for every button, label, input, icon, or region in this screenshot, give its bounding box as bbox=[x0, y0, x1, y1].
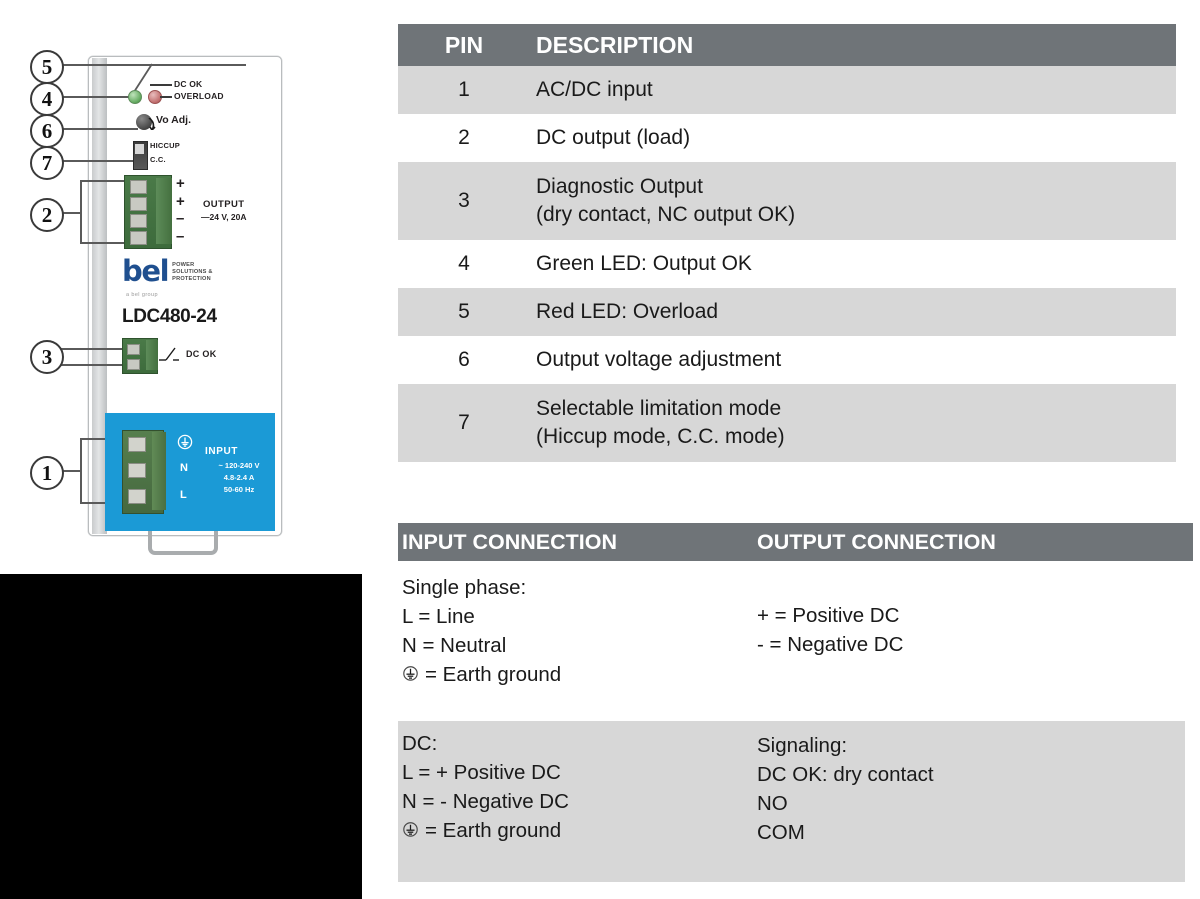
output-symbol-minus-2: – bbox=[176, 228, 184, 245]
pin-number: 7 bbox=[398, 411, 530, 435]
callout-5: 5 bbox=[30, 50, 64, 84]
pin-table-header-row: PIN DESCRIPTION bbox=[398, 24, 1176, 66]
input-connection-line-earth: = Earth ground bbox=[402, 660, 757, 689]
earth-ground-text: = Earth ground bbox=[425, 660, 561, 689]
output-connection-line: Signaling: bbox=[757, 731, 934, 760]
pin-description-line: Red LED: Overload bbox=[536, 298, 718, 326]
connection-header-output: OUTPUT CONNECTION bbox=[757, 530, 996, 555]
input-word-label: INPUT bbox=[205, 446, 238, 457]
leader-6 bbox=[60, 128, 138, 130]
pin-number: 5 bbox=[398, 300, 530, 324]
pin-description-table: PIN DESCRIPTION 1 AC/DC input 2 DC outpu… bbox=[398, 24, 1176, 462]
output-connection-line: COM bbox=[757, 818, 934, 847]
output-symbol-plus-2: + bbox=[176, 193, 185, 210]
table-row: 1 AC/DC input bbox=[398, 66, 1176, 114]
leader-3-top bbox=[60, 348, 128, 350]
pin-table-header-description: DESCRIPTION bbox=[530, 32, 693, 59]
pin-number: 2 bbox=[398, 126, 530, 150]
input-connection-cell: DC: L = + Positive DC N = - Negative DC … bbox=[398, 729, 757, 882]
pin-description-line: Green LED: Output OK bbox=[536, 250, 752, 278]
input-terminal-side bbox=[152, 432, 166, 510]
dc-ok-terminal-label: DC OK bbox=[186, 349, 217, 359]
connection-table: INPUT CONNECTION OUTPUT CONNECTION Singl… bbox=[398, 523, 1193, 882]
pin-number: 6 bbox=[398, 348, 530, 372]
input-letter-n: N bbox=[180, 462, 188, 474]
earth-ground-icon bbox=[402, 822, 419, 839]
pin-description-line: (Hiccup mode, C.C. mode) bbox=[536, 423, 785, 451]
earth-ground-text: = Earth ground bbox=[425, 816, 561, 845]
leader-2-bracket bbox=[80, 180, 82, 244]
callout-4: 4 bbox=[30, 82, 64, 116]
callout-1: 1 bbox=[30, 456, 64, 490]
overload-led-label: OVERLOAD bbox=[174, 91, 224, 101]
cc-mode-label: C.C. bbox=[150, 155, 166, 164]
pin-description-line: Selectable limitation mode bbox=[536, 395, 785, 423]
connection-table-header-row: INPUT CONNECTION OUTPUT CONNECTION bbox=[398, 523, 1193, 561]
dc-ok-terminal-side bbox=[146, 340, 158, 370]
output-connection-cell: + = Positive DC - = Negative DC bbox=[757, 573, 903, 721]
limitation-mode-switch-knob bbox=[135, 144, 144, 154]
pin-table-header-pin: PIN bbox=[398, 32, 530, 59]
pin-number: 3 bbox=[398, 189, 530, 213]
input-connection-cell: Single phase: L = Line N = Neutral = Ear… bbox=[398, 573, 757, 721]
output-connection-line: - = Negative DC bbox=[757, 630, 903, 659]
bel-subtitle: a bel group bbox=[126, 292, 158, 298]
input-connection-line: L = + Positive DC bbox=[402, 758, 757, 787]
pin-description-line: DC output (load) bbox=[536, 124, 690, 152]
table-row: DC: L = + Positive DC N = - Negative DC … bbox=[398, 721, 1185, 882]
bel-tagline: POWERSOLUTIONS &PROTECTION bbox=[172, 262, 212, 283]
output-connection-line: NO bbox=[757, 789, 934, 818]
table-row: 5 Red LED: Overload bbox=[398, 288, 1176, 336]
dc-ok-led-label: DC OK bbox=[174, 79, 202, 89]
output-connection-cell: Signaling: DC OK: dry contact NO COM bbox=[757, 729, 934, 882]
pin-description-line: (dry contact, NC output OK) bbox=[536, 201, 795, 229]
earth-ground-icon bbox=[177, 434, 193, 450]
hiccup-mode-label: HICCUP bbox=[150, 141, 180, 150]
output-connection-line: DC OK: dry contact bbox=[757, 760, 934, 789]
input-connection-line: Single phase: bbox=[402, 573, 757, 602]
table-row: Single phase: L = Line N = Neutral = Ear… bbox=[398, 561, 1193, 721]
callout-2: 2 bbox=[30, 198, 64, 232]
product-figure: 5 4 6 7 2 3 1 DC OK OVERLOAD Vo Adj. HIC… bbox=[0, 0, 375, 570]
leader-5 bbox=[60, 64, 246, 66]
input-connection-line: N = Neutral bbox=[402, 631, 757, 660]
device-mounting-foot bbox=[148, 531, 218, 555]
input-connection-line: DC: bbox=[402, 729, 757, 758]
model-number: LDC480-24 bbox=[122, 306, 217, 328]
leader-7 bbox=[60, 160, 134, 162]
output-word-label: OUTPUT bbox=[203, 199, 244, 210]
output-symbol-minus-1: – bbox=[176, 210, 184, 227]
input-connection-line: L = Line bbox=[402, 602, 757, 631]
pin-description-line: AC/DC input bbox=[536, 76, 653, 104]
input-voltage-spec: ~ 120-240 V bbox=[199, 461, 279, 470]
output-terminal-side bbox=[156, 178, 172, 244]
pin-description-line: Output voltage adjustment bbox=[536, 346, 781, 374]
dc-ok-terminal-hole bbox=[127, 344, 140, 355]
connection-header-input: INPUT CONNECTION bbox=[398, 530, 757, 555]
table-row: 4 Green LED: Output OK bbox=[398, 240, 1176, 288]
leader-1-bracket bbox=[80, 438, 82, 502]
output-symbol-plus-1: + bbox=[176, 175, 185, 192]
input-current-spec: 4.8-2.4 A bbox=[199, 473, 279, 482]
vo-adjust-label: Vo Adj. bbox=[156, 114, 191, 126]
bel-logo: bel POWERSOLUTIONS &PROTECTION bbox=[122, 258, 213, 286]
input-connection-line: N = - Negative DC bbox=[402, 787, 757, 816]
earth-ground-icon bbox=[402, 666, 419, 683]
table-row: 6 Output voltage adjustment bbox=[398, 336, 1176, 384]
dc-ok-terminal-hole bbox=[127, 359, 140, 370]
callout-7: 7 bbox=[30, 146, 64, 180]
input-frequency-spec: 50-60 Hz bbox=[199, 485, 279, 494]
output-connection-line: + = Positive DC bbox=[757, 601, 903, 630]
table-row: 7 Selectable limitation mode (Hiccup mod… bbox=[398, 384, 1176, 462]
table-row: 2 DC output (load) bbox=[398, 114, 1176, 162]
black-placeholder-block bbox=[0, 574, 362, 899]
output-terminal-hole bbox=[130, 197, 147, 211]
output-terminal-hole bbox=[130, 180, 147, 194]
output-terminal-hole bbox=[130, 231, 147, 245]
input-letter-l: L bbox=[180, 489, 187, 501]
output-terminal-hole bbox=[130, 214, 147, 228]
pin-description-line: Diagnostic Output bbox=[536, 173, 795, 201]
pin-number: 4 bbox=[398, 252, 530, 276]
callout-3: 3 bbox=[30, 340, 64, 374]
green-led-indicator bbox=[128, 90, 142, 104]
table-row: 3 Diagnostic Output (dry contact, NC out… bbox=[398, 162, 1176, 240]
overload-leader bbox=[160, 96, 172, 98]
callout-6: 6 bbox=[30, 114, 64, 148]
leader-4 bbox=[60, 96, 134, 98]
dc-ok-leader bbox=[150, 84, 172, 86]
input-terminal-hole bbox=[128, 489, 146, 504]
pin-number: 1 bbox=[398, 78, 530, 102]
bel-wordmark: bel bbox=[122, 258, 168, 286]
output-spec-label: —24 V, 20A bbox=[201, 212, 247, 222]
input-connection-line-earth: = Earth ground bbox=[402, 816, 757, 845]
input-terminal-hole bbox=[128, 463, 146, 478]
input-terminal-hole bbox=[128, 437, 146, 452]
dry-contact-icon bbox=[158, 344, 180, 366]
leader-3-bottom bbox=[60, 364, 128, 366]
